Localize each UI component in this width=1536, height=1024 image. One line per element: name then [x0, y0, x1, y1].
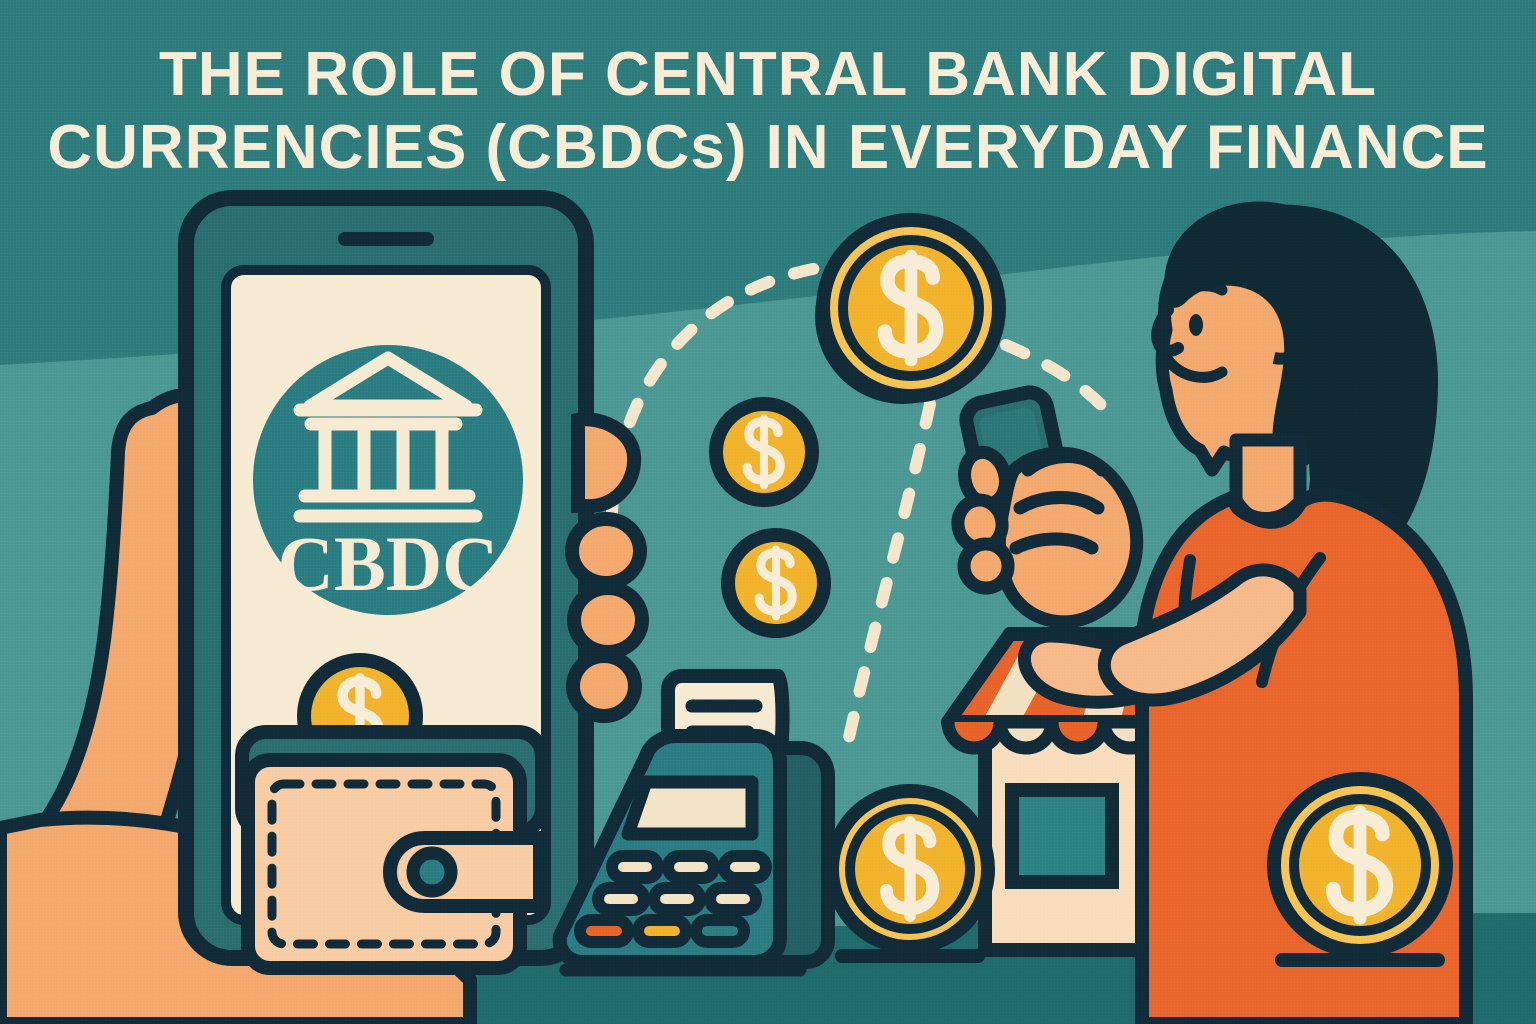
finger-pinky	[573, 656, 635, 716]
key-6	[710, 888, 756, 910]
finger-middle	[572, 519, 640, 583]
key-5	[654, 888, 700, 910]
finger-ring	[574, 588, 642, 652]
phone-speaker-notch	[338, 232, 434, 246]
coin-icon-small-mid	[716, 404, 812, 500]
person-hand-far	[954, 448, 1011, 588]
key-clear	[638, 920, 686, 942]
shop-window	[1012, 790, 1112, 882]
hand-fingers-group	[572, 419, 642, 716]
key-3	[724, 856, 766, 878]
wallet-clasp-button	[413, 853, 451, 891]
finger-index	[578, 419, 634, 506]
cbdc-badge: CBDC	[253, 345, 523, 615]
key-cancel	[580, 920, 628, 942]
key-4	[598, 888, 644, 910]
key-1	[612, 856, 658, 878]
coin-icon-bottom-right	[1274, 779, 1446, 960]
coin-icon-large-top	[815, 220, 999, 404]
person-eye	[1189, 314, 1203, 336]
title-line-1: THE ROLE OF CENTRAL BANK DIGITAL	[159, 40, 1377, 109]
key-enter	[696, 920, 744, 942]
terminal-screen	[628, 782, 752, 834]
key-2	[668, 856, 714, 878]
title-line-2: CURRENCIES (CBDCs) IN EVERYDAY FINANCE	[47, 113, 1488, 182]
illustration-canvas: THE ROLE OF CENTRAL BANK DIGITAL CURRENC…	[0, 0, 1536, 1024]
cbdc-badge-label: CBDC	[277, 520, 498, 607]
person-hand-near	[999, 453, 1136, 622]
terminal-keypad[interactable]	[580, 856, 766, 942]
coin-icon-small-lower	[728, 535, 824, 631]
coin-icon-bottom-left	[832, 791, 988, 956]
